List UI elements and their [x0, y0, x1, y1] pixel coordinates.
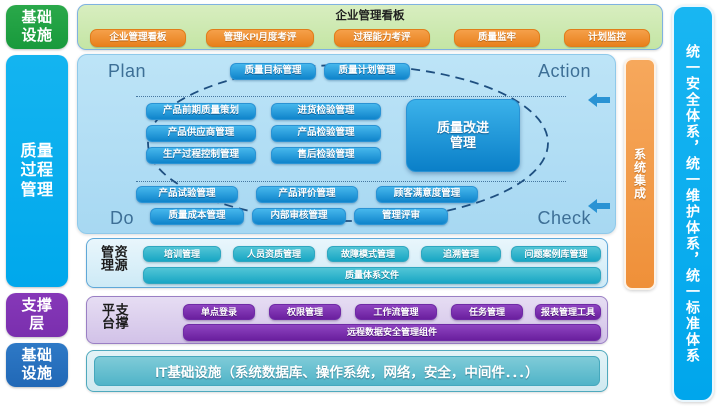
pdca-button-product-evaluation-management[interactable]: 产品评价管理 [256, 186, 358, 203]
resource-button-training-management[interactable]: 培训管理 [143, 246, 221, 262]
pdca-button-production-process-control-management[interactable]: 生产过程控制管理 [146, 147, 256, 164]
it-infrastructure-label: IT基础设施（系统数据库、操作系统，网络，安全，中间件．．．） [94, 356, 600, 386]
pdca-button-quality-plan-management[interactable]: 质量计划管理 [324, 63, 410, 80]
enterprise-dashboard-band: 企业管理看板 企业管理看板 管理KPI月度考评 过程能力考评 质量监牢 计划监控 [77, 4, 663, 50]
quadrant-label-action: Action [538, 61, 591, 82]
resource-management-label: 资源 管理 [92, 245, 134, 283]
rail-item-support-layer[interactable]: 支撑 层 [6, 293, 68, 337]
support-button-report-management-tool[interactable]: 报表管理工具 [535, 304, 601, 320]
pdca-button-quality-improvement-management[interactable]: 质量改进 管理 [406, 99, 520, 172]
system-integration-rail[interactable]: 系统集成 [624, 58, 656, 290]
rail-item-infrastructure-bottom[interactable]: 基础 设施 [6, 343, 68, 387]
resource-label-col1: 资源 [113, 245, 127, 283]
support-button-workflow-management[interactable]: 工作流管理 [355, 304, 437, 320]
support-button-single-sign-on[interactable]: 单点登录 [183, 304, 255, 320]
it-infrastructure-band: IT基础设施（系统数据库、操作系统，网络，安全，中间件．．．） [86, 350, 608, 392]
quadrant-label-check: Check [537, 208, 591, 229]
rail-label-line2: 层 [21, 315, 52, 333]
support-platform-label: 支撑 平台 [93, 303, 135, 339]
diagram-canvas: 基础 设施 质量 过程 管理 支撑 层 基础 设施 统一安全体系，统一维护体系，… [0, 0, 719, 407]
board-button-process-capability-review[interactable]: 过程能力考评 [334, 29, 430, 47]
rail-item-infrastructure-top[interactable]: 基础 设施 [6, 5, 68, 49]
pdca-button-customer-satisfaction-management[interactable]: 顾客满意度管理 [376, 186, 478, 203]
pdca-button-product-test-management[interactable]: 产品试验管理 [136, 186, 238, 203]
board-title: 企业管理看板 [78, 7, 662, 23]
improve-label-line1: 质量改进 [437, 121, 489, 136]
pdca-button-after-sales-inspection-management[interactable]: 售后检验管理 [271, 147, 381, 164]
pdca-button-incoming-inspection-management[interactable]: 进货检验管理 [271, 103, 381, 120]
pdca-button-product-early-quality-planning[interactable]: 产品前期质量策划 [146, 103, 256, 120]
board-button-quality-monitoring[interactable]: 质量监牢 [454, 29, 540, 47]
support-button-remote-data-security-component[interactable]: 远程数据安全管理组件 [183, 324, 601, 341]
resource-management-band: 资源 管理 培训管理 人员资质管理 故障模式管理 追溯管理 问题案例库管理 质量… [86, 238, 608, 288]
pdca-button-product-inspection-management[interactable]: 产品检验管理 [271, 125, 381, 142]
resource-button-quality-system-documents[interactable]: 质量体系文件 [143, 267, 601, 284]
pdca-button-internal-audit-management[interactable]: 内部审核管理 [252, 208, 346, 225]
rail-label-line1: 基础 [21, 347, 52, 365]
board-button-plan-monitoring[interactable]: 计划监控 [564, 29, 650, 47]
board-button-enterprise-dashboard[interactable]: 企业管理看板 [90, 29, 186, 47]
pdca-button-quality-cost-management[interactable]: 质量成本管理 [150, 208, 244, 225]
rail-label-line1: 质量 [20, 142, 53, 162]
board-button-kpi-monthly-review[interactable]: 管理KPI月度考评 [206, 29, 314, 47]
support-label-col2: 平台 [100, 303, 114, 339]
rail-label-line2: 设施 [21, 365, 52, 383]
improve-label-line2: 管理 [437, 136, 489, 151]
rail-label-line2: 过程 [20, 161, 53, 181]
rail-label-line1: 基础 [21, 9, 52, 27]
support-button-task-management[interactable]: 任务管理 [451, 304, 523, 320]
resource-button-issue-case-library-management[interactable]: 问题案例库管理 [511, 246, 601, 262]
pdca-button-management-review[interactable]: 管理评审 [354, 208, 448, 225]
arrow-left-icon-bottom [586, 198, 612, 214]
pdca-button-product-supplier-management[interactable]: 产品供应商管理 [146, 125, 256, 142]
rail-label-line3: 管理 [20, 181, 53, 201]
quadrant-label-do: Do [110, 208, 134, 229]
rail-unified-systems[interactable]: 统一安全体系，统一维护体系，统一标准体系 [672, 5, 714, 402]
rail-label-line2: 设施 [21, 27, 52, 45]
guide-line-top [136, 96, 566, 97]
support-button-permission-management[interactable]: 权限管理 [269, 304, 341, 320]
support-label-col1: 支撑 [114, 303, 128, 339]
pdca-button-quality-objective-management[interactable]: 质量目标管理 [230, 63, 316, 80]
arrow-left-icon-top [586, 92, 612, 108]
pdca-panel: Plan Action Do Check 质量目标管理 质量计划管理 产品前期质… [77, 54, 616, 234]
resource-button-traceability-management[interactable]: 追溯管理 [421, 246, 501, 262]
support-platform-band: 支撑 平台 单点登录 权限管理 工作流管理 任务管理 报表管理工具 远程数据安全… [86, 296, 608, 344]
guide-line-bottom [136, 181, 566, 182]
quadrant-label-plan: Plan [108, 61, 146, 82]
resource-label-col2: 管理 [99, 245, 113, 283]
resource-button-failure-mode-management[interactable]: 故障模式管理 [327, 246, 409, 262]
rail-item-quality-process-management[interactable]: 质量 过程 管理 [6, 55, 68, 287]
rail-label-line1: 支撑 [21, 297, 52, 315]
resource-button-personnel-qualification-management[interactable]: 人员资质管理 [233, 246, 315, 262]
